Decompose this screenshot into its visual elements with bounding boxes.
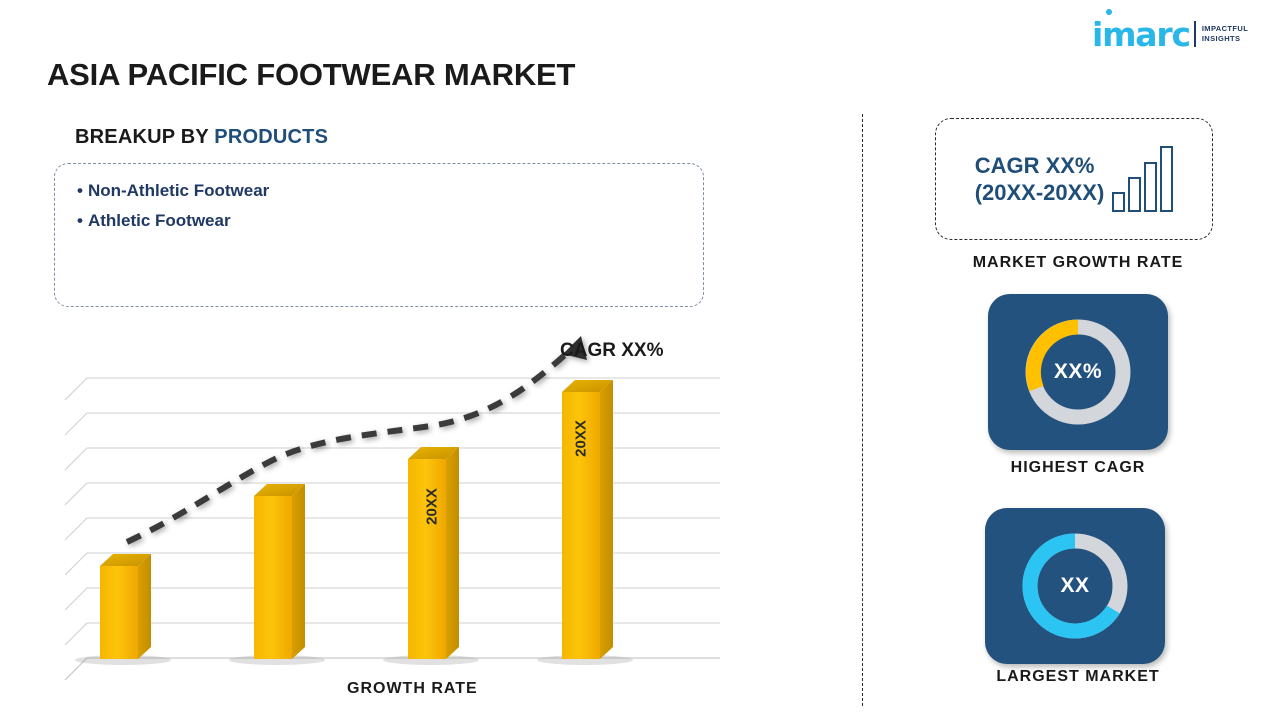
bar-ground-shadows	[75, 655, 633, 665]
logo-divider	[1194, 21, 1196, 47]
bullet-icon: •	[77, 211, 83, 230]
list-item: •Non-Athletic Footwear	[77, 176, 681, 206]
chart-gridlines	[65, 378, 720, 680]
logo-tagline: IMPACTFUL INSIGHTS	[1202, 24, 1248, 44]
caption-market-growth-rate: MARKET GROWTH RATE	[893, 254, 1263, 272]
market-growth-rate-card: CAGR XX% (20XX-20XX)	[935, 118, 1213, 240]
panel-divider	[862, 114, 863, 706]
chart-x-axis-label: GROWTH RATE	[347, 680, 478, 698]
chart-bar	[254, 484, 305, 659]
highest-cagr-card: XX%	[988, 294, 1168, 450]
largest-market-card: XX	[985, 508, 1165, 664]
logo-wordmark: imarc	[1092, 18, 1190, 51]
chart-cagr-annotation: CAGR XX%	[560, 340, 663, 362]
list-item-label: Non-Athletic Footwear	[88, 181, 269, 200]
chart-bar-label: 20XX	[424, 457, 441, 557]
logo-wordmark-text: imarc	[1092, 15, 1190, 54]
caption-highest-cagr: HIGHEST CAGR	[893, 459, 1263, 477]
logo-tagline-line2: INSIGHTS	[1202, 34, 1248, 44]
page-title: ASIA PACIFIC FOOTWEAR MARKET	[47, 57, 575, 93]
logo-dot-icon	[1106, 9, 1112, 15]
imarc-logo: imarc IMPACTFUL INSIGHTS	[1092, 14, 1248, 54]
breakup-prefix: BREAKUP BY	[75, 126, 214, 148]
logo-tagline-line1: IMPACTFUL	[1202, 24, 1248, 34]
breakup-heading: BREAKUP BY PRODUCTS	[75, 126, 328, 149]
chart-trend-line	[127, 336, 587, 542]
segments-box: •Non-Athletic Footwear •Athletic Footwea…	[54, 163, 704, 307]
bullet-icon: •	[77, 181, 83, 200]
growth-rate-chart: 20XX 20XX	[55, 330, 755, 680]
chart-bar-label: 20XX	[573, 389, 590, 489]
breakup-highlight: PRODUCTS	[214, 126, 328, 148]
chart-bar	[100, 554, 151, 659]
list-item: •Athletic Footwear	[77, 206, 681, 236]
caption-largest-market: LARGEST MARKET	[893, 668, 1263, 686]
list-item-label: Athletic Footwear	[88, 211, 231, 230]
highest-cagr-value: XX%	[1054, 360, 1102, 384]
chart-canvas	[55, 330, 755, 680]
cagr-card-line2: (20XX-20XX)	[975, 179, 1105, 207]
cagr-card-text: CAGR XX% (20XX-20XX)	[975, 152, 1105, 207]
largest-market-value: XX	[1060, 574, 1089, 598]
cagr-card-line1: CAGR XX%	[975, 152, 1105, 180]
bar-chart-icon	[1112, 146, 1173, 212]
